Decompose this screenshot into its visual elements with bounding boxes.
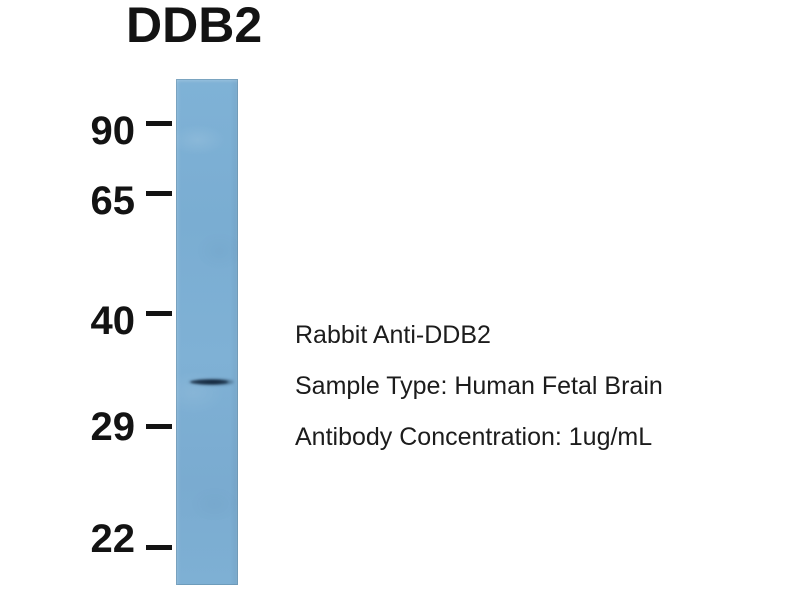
mw-marker-22-label: 22 (91, 519, 136, 559)
mw-marker-90-label: 90 (91, 111, 136, 151)
gel-lane-texture (176, 79, 238, 585)
protein-band-core (190, 380, 228, 384)
mw-marker-65-label: 65 (91, 181, 136, 221)
mw-marker-29-dash-icon (146, 424, 172, 429)
page-title: DDB2 (126, 0, 262, 53)
annotation-block: Rabbit Anti-DDB2 Sample Type: Human Feta… (295, 310, 765, 463)
annotation-line-sample-type: Sample Type: Human Fetal Brain (295, 361, 765, 412)
annotation-line-concentration: Antibody Concentration: 1ug/mL (295, 412, 765, 463)
mw-marker-22-dash-icon (146, 545, 172, 550)
mw-marker-40-dash-icon (146, 311, 172, 316)
mw-marker-40-label: 40 (91, 301, 136, 341)
mw-marker-90-dash-icon (146, 121, 172, 126)
mw-marker-65-dash-icon (146, 191, 172, 196)
mw-marker-29-label: 29 (91, 407, 136, 447)
western-blot-figure: DDB2 90 65 40 29 22 Rabbit A (0, 0, 800, 600)
annotation-line-antibody: Rabbit Anti-DDB2 (295, 310, 765, 361)
gel-lane (176, 79, 238, 585)
